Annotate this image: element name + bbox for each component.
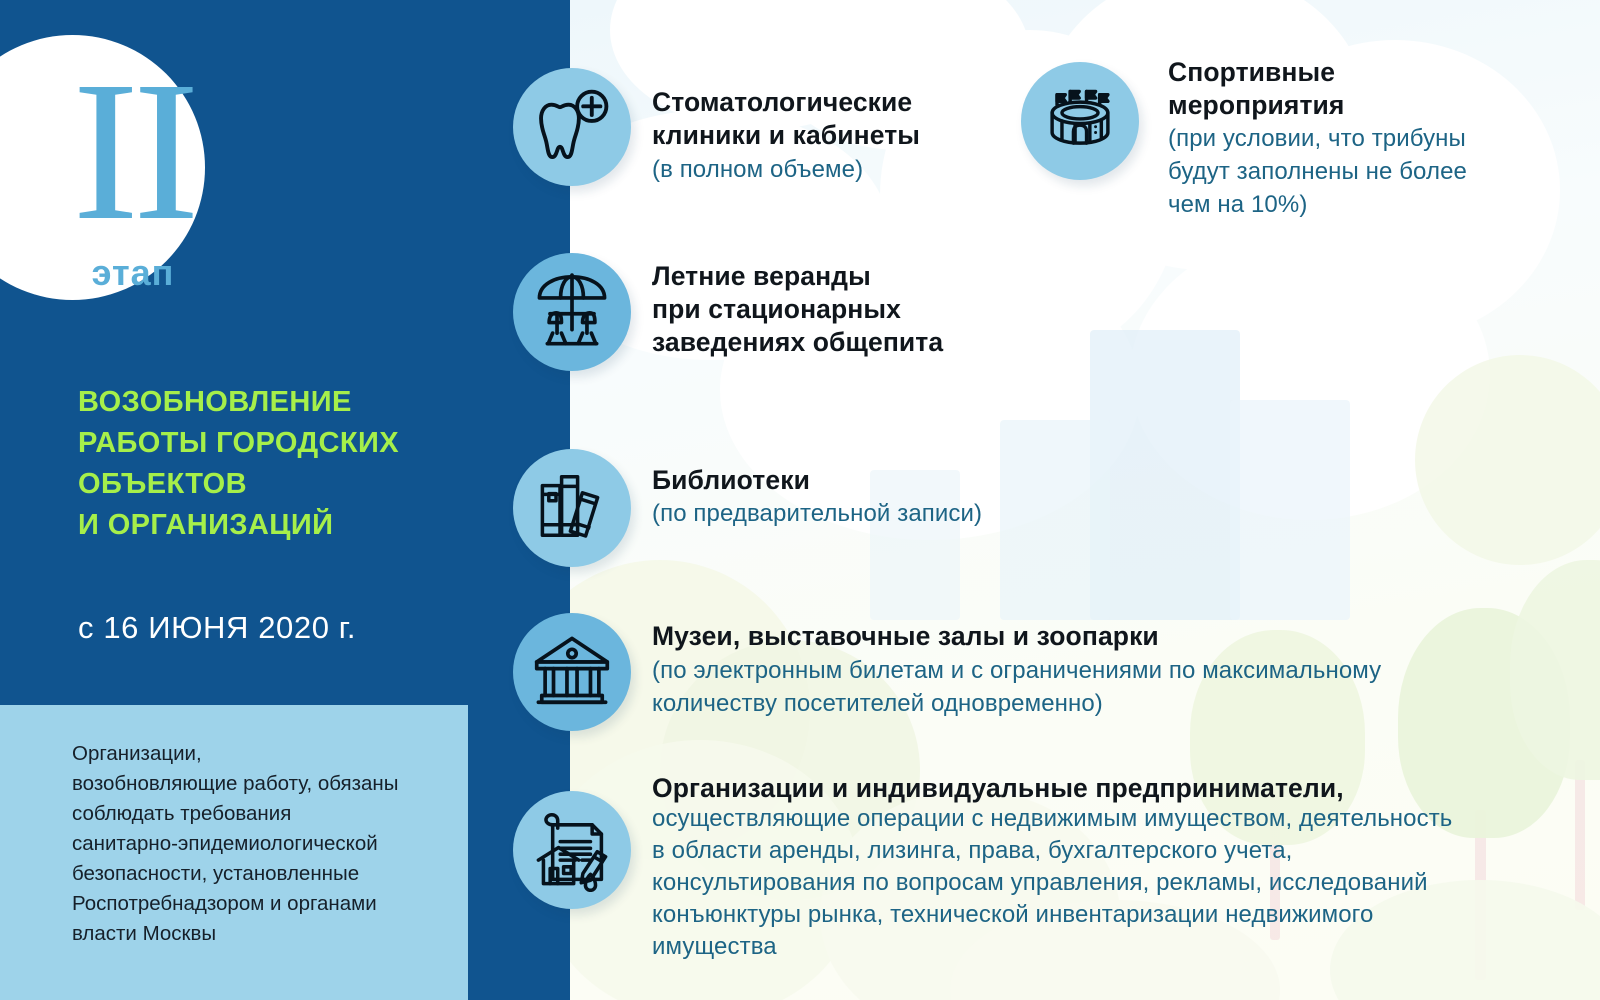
- item-sub-sports: (при условии, что трибуны будут заполнен…: [1168, 122, 1467, 221]
- icon-circle-organizations: [513, 791, 631, 909]
- item-title-organizations: Организации и индивидуальные предпринима…: [652, 772, 1344, 805]
- page-title: ВОЗОБНОВЛЕНИЕ РАБОТЫ ГОРОДСКИХ ОБЪЕКТОВ …: [78, 382, 508, 546]
- building-silhouette: [1000, 420, 1110, 620]
- item-title-sports: Спортивные мероприятия: [1168, 56, 1345, 122]
- icon-circle-dental: [513, 68, 631, 186]
- document-house-pen-icon: [530, 808, 614, 892]
- tree-trunk: [1575, 760, 1585, 910]
- infographic-poster: II этап ВОЗОБНОВЛЕНИЕ РАБОТЫ ГОРОДСКИХ О…: [0, 0, 1600, 1000]
- item-title-libraries: Библиотеки: [652, 464, 810, 497]
- icon-circle-libraries: [513, 449, 631, 567]
- item-sub-organizations: осуществляющие операции с недвижимым иму…: [652, 803, 1452, 963]
- icon-circle-verandas: [513, 253, 631, 371]
- icon-circle-sports: [1021, 62, 1139, 180]
- item-title-museums: Музеи, выставочные залы и зоопарки: [652, 620, 1159, 653]
- note-box: Организации, возобновляющие работу, обяз…: [0, 705, 468, 1000]
- note-text: Организации, возобновляющие работу, обяз…: [72, 739, 454, 949]
- museum-icon: [530, 630, 614, 714]
- item-title-verandas: Летние веранды при стационарных заведени…: [652, 260, 943, 359]
- building-silhouette: [1090, 330, 1240, 620]
- icon-circle-museums: [513, 613, 631, 731]
- left-sidebar: II этап ВОЗОБНОВЛЕНИЕ РАБОТЫ ГОРОДСКИХ О…: [0, 0, 570, 1000]
- patio-umbrella-icon: [528, 268, 616, 356]
- tooth-medical-icon: [529, 84, 615, 170]
- item-sub-dental: (в полном объеме): [652, 153, 863, 186]
- stage-label: этап: [48, 252, 218, 294]
- stadium-icon: [1039, 80, 1121, 162]
- item-sub-libraries: (по предварительной записи): [652, 497, 982, 530]
- books-icon: [532, 468, 612, 548]
- building-silhouette: [1230, 400, 1350, 620]
- stage-numeral: II: [48, 52, 218, 252]
- effective-date: с 16 ИЮНЯ 2020 г.: [78, 608, 508, 648]
- item-title-dental: Стоматологические клиники и кабинеты: [652, 86, 920, 152]
- building-silhouette: [870, 470, 960, 620]
- item-sub-museums: (по электронным билетам и с ограничениям…: [652, 654, 1381, 720]
